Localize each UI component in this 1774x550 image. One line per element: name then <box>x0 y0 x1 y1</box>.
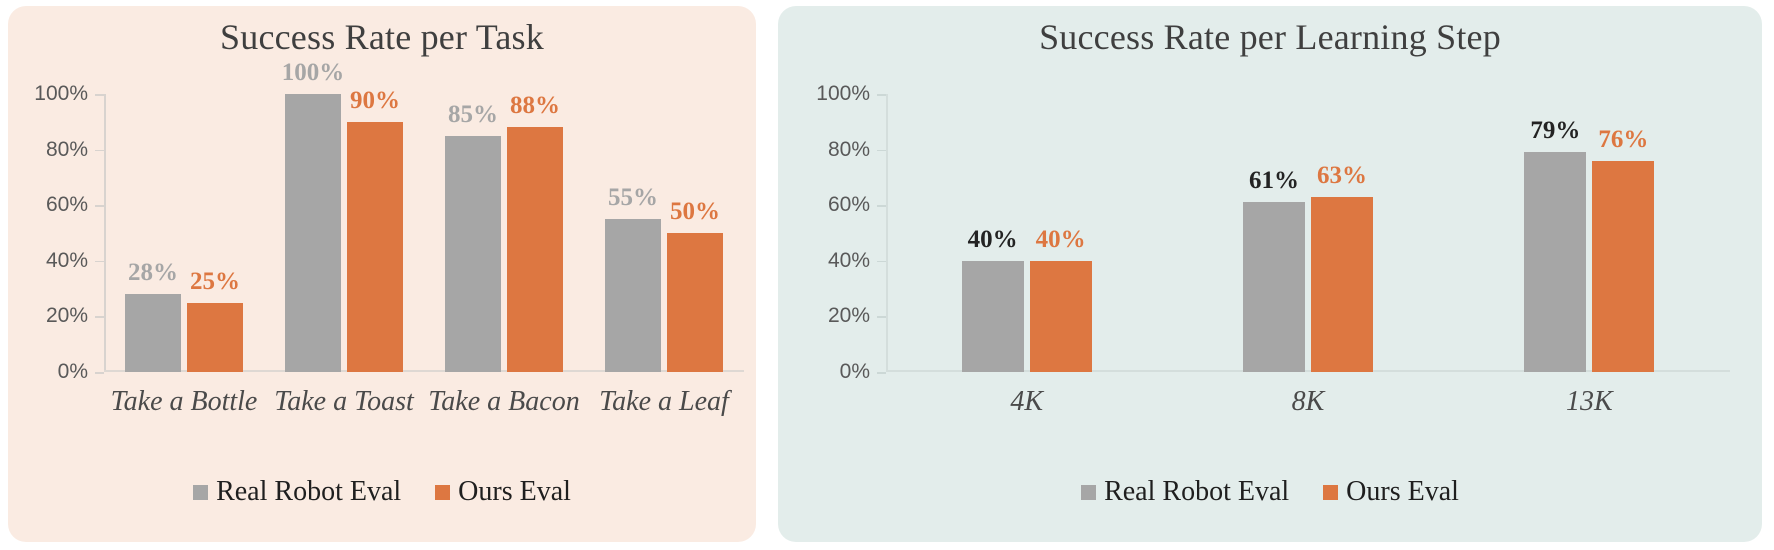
legend-left: Real Robot Eval Ours Eval <box>8 476 756 508</box>
legend-item-real-robot-eval[interactable]: Real Robot Eval <box>193 476 401 508</box>
bar-value-label: 25% <box>190 268 240 296</box>
y-tick-right-80 <box>877 150 886 152</box>
y-axis-label-right-100: 100% <box>816 82 870 106</box>
bar-value-label: 50% <box>670 198 720 226</box>
y-tick-right-20 <box>877 316 886 318</box>
bar-value-label: 55% <box>608 184 658 212</box>
y-axis-label-right-0: 0% <box>840 360 870 384</box>
y-tick-left-60 <box>95 205 104 207</box>
x-axis-label-take-a-leaf: Take a Leaf <box>599 386 729 418</box>
y-axis-label-left-80: 80% <box>46 138 88 162</box>
bar-real-robot-eval-take-a-bottle[interactable]: 28% <box>125 294 181 372</box>
bar-group-take-a-bacon: 85% 88% Take a Bacon <box>424 94 584 372</box>
legend-item-ours-eval[interactable]: Ours Eval <box>1323 476 1459 508</box>
chart-panel-success-rate-per-learning-step: Success Rate per Learning Step 100% 80% … <box>778 6 1762 542</box>
legend-swatch-icon <box>193 485 208 500</box>
bar-real-robot-eval-take-a-toast[interactable]: 100% <box>285 94 341 372</box>
bar-value-label: 90% <box>350 87 400 115</box>
legend-label: Ours Eval <box>1346 476 1459 508</box>
bar-ours-eval-4k[interactable]: 40% <box>1030 261 1092 372</box>
legend-label: Real Robot Eval <box>216 476 401 508</box>
legend-swatch-icon <box>435 485 450 500</box>
bar-real-robot-eval-8k[interactable]: 61% <box>1243 202 1305 372</box>
y-tick-left-0 <box>95 372 104 374</box>
x-axis-label-take-a-toast: Take a Toast <box>274 386 414 418</box>
y-tick-right-100 <box>877 94 886 96</box>
legend-swatch-icon <box>1323 485 1338 500</box>
legend-right: Real Robot Eval Ours Eval <box>778 476 1762 508</box>
bar-value-label: 76% <box>1598 126 1648 154</box>
bar-groups-left: 28% 25% Take a Bottle 100% 90% Take a To… <box>104 94 744 372</box>
chart-title-right: Success Rate per Learning Step <box>778 16 1762 58</box>
legend-item-ours-eval[interactable]: Ours Eval <box>435 476 571 508</box>
x-axis-label-take-a-bottle: Take a Bottle <box>111 386 258 418</box>
y-tick-right-40 <box>877 261 886 263</box>
legend-swatch-icon <box>1081 485 1096 500</box>
x-axis-label-8k: 8K <box>1292 386 1325 418</box>
chart-panel-success-rate-per-task: Success Rate per Task 100% 80% 60% 40% 2… <box>8 6 756 542</box>
y-axis-label-right-80: 80% <box>828 138 870 162</box>
y-axis-label-right-40: 40% <box>828 249 870 273</box>
y-tick-left-100 <box>95 94 104 96</box>
bar-group-4k: 40% 40% 4K <box>886 94 1167 372</box>
bar-ours-eval-take-a-toast[interactable]: 90% <box>347 122 403 372</box>
plot-area-right: 100% 80% 60% 40% 20% 0% 40% 40% 4K <box>886 94 1730 372</box>
bar-ours-eval-13k[interactable]: 76% <box>1592 161 1654 372</box>
bar-value-label: 28% <box>128 259 178 287</box>
bar-real-robot-eval-4k[interactable]: 40% <box>962 261 1024 372</box>
y-axis-label-left-0: 0% <box>58 360 88 384</box>
bar-value-label: 88% <box>510 92 560 120</box>
bar-ours-eval-8k[interactable]: 63% <box>1311 197 1373 372</box>
bar-group-13k: 79% 76% 13K <box>1449 94 1730 372</box>
bar-value-label: 100% <box>282 59 345 87</box>
legend-item-real-robot-eval[interactable]: Real Robot Eval <box>1081 476 1289 508</box>
y-tick-right-0 <box>877 372 886 374</box>
y-tick-left-20 <box>95 316 104 318</box>
y-tick-left-80 <box>95 150 104 152</box>
bar-real-robot-eval-take-a-leaf[interactable]: 55% <box>605 219 661 372</box>
bar-value-label: 40% <box>968 226 1018 254</box>
y-axis-label-left-60: 60% <box>46 193 88 217</box>
legend-label: Ours Eval <box>458 476 571 508</box>
bar-value-label: 63% <box>1317 162 1367 190</box>
bar-group-take-a-leaf: 55% 50% Take a Leaf <box>584 94 744 372</box>
bar-ours-eval-take-a-leaf[interactable]: 50% <box>667 233 723 372</box>
bar-real-robot-eval-13k[interactable]: 79% <box>1524 152 1586 372</box>
bar-value-label: 79% <box>1530 117 1580 145</box>
x-axis-label-13k: 13K <box>1566 386 1613 418</box>
bar-value-label: 85% <box>448 101 498 129</box>
bar-group-take-a-bottle: 28% 25% Take a Bottle <box>104 94 264 372</box>
chart-title-left: Success Rate per Task <box>8 16 756 58</box>
y-tick-left-40 <box>95 261 104 263</box>
y-tick-right-60 <box>877 205 886 207</box>
bar-ours-eval-take-a-bacon[interactable]: 88% <box>507 127 563 372</box>
bar-value-label: 61% <box>1249 167 1299 195</box>
chart-stage: Success Rate per Task 100% 80% 60% 40% 2… <box>0 0 1774 550</box>
y-axis-label-left-20: 20% <box>46 304 88 328</box>
y-axis-label-right-60: 60% <box>828 193 870 217</box>
bar-group-take-a-toast: 100% 90% Take a Toast <box>264 94 424 372</box>
x-axis-label-4k: 4K <box>1010 386 1043 418</box>
bar-real-robot-eval-take-a-bacon[interactable]: 85% <box>445 136 501 372</box>
x-axis-label-take-a-bacon: Take a Bacon <box>428 386 579 418</box>
bar-group-8k: 61% 63% 8K <box>1167 94 1448 372</box>
plot-area-left: 100% 80% 60% 40% 20% 0% 28% 25% Take a B… <box>104 94 744 372</box>
bar-groups-right: 40% 40% 4K 61% 63% 8K <box>886 94 1730 372</box>
bar-value-label: 40% <box>1036 226 1086 254</box>
bar-ours-eval-take-a-bottle[interactable]: 25% <box>187 303 243 373</box>
legend-label: Real Robot Eval <box>1104 476 1289 508</box>
y-axis-label-left-40: 40% <box>46 249 88 273</box>
y-axis-label-right-20: 20% <box>828 304 870 328</box>
y-axis-label-left-100: 100% <box>34 82 88 106</box>
